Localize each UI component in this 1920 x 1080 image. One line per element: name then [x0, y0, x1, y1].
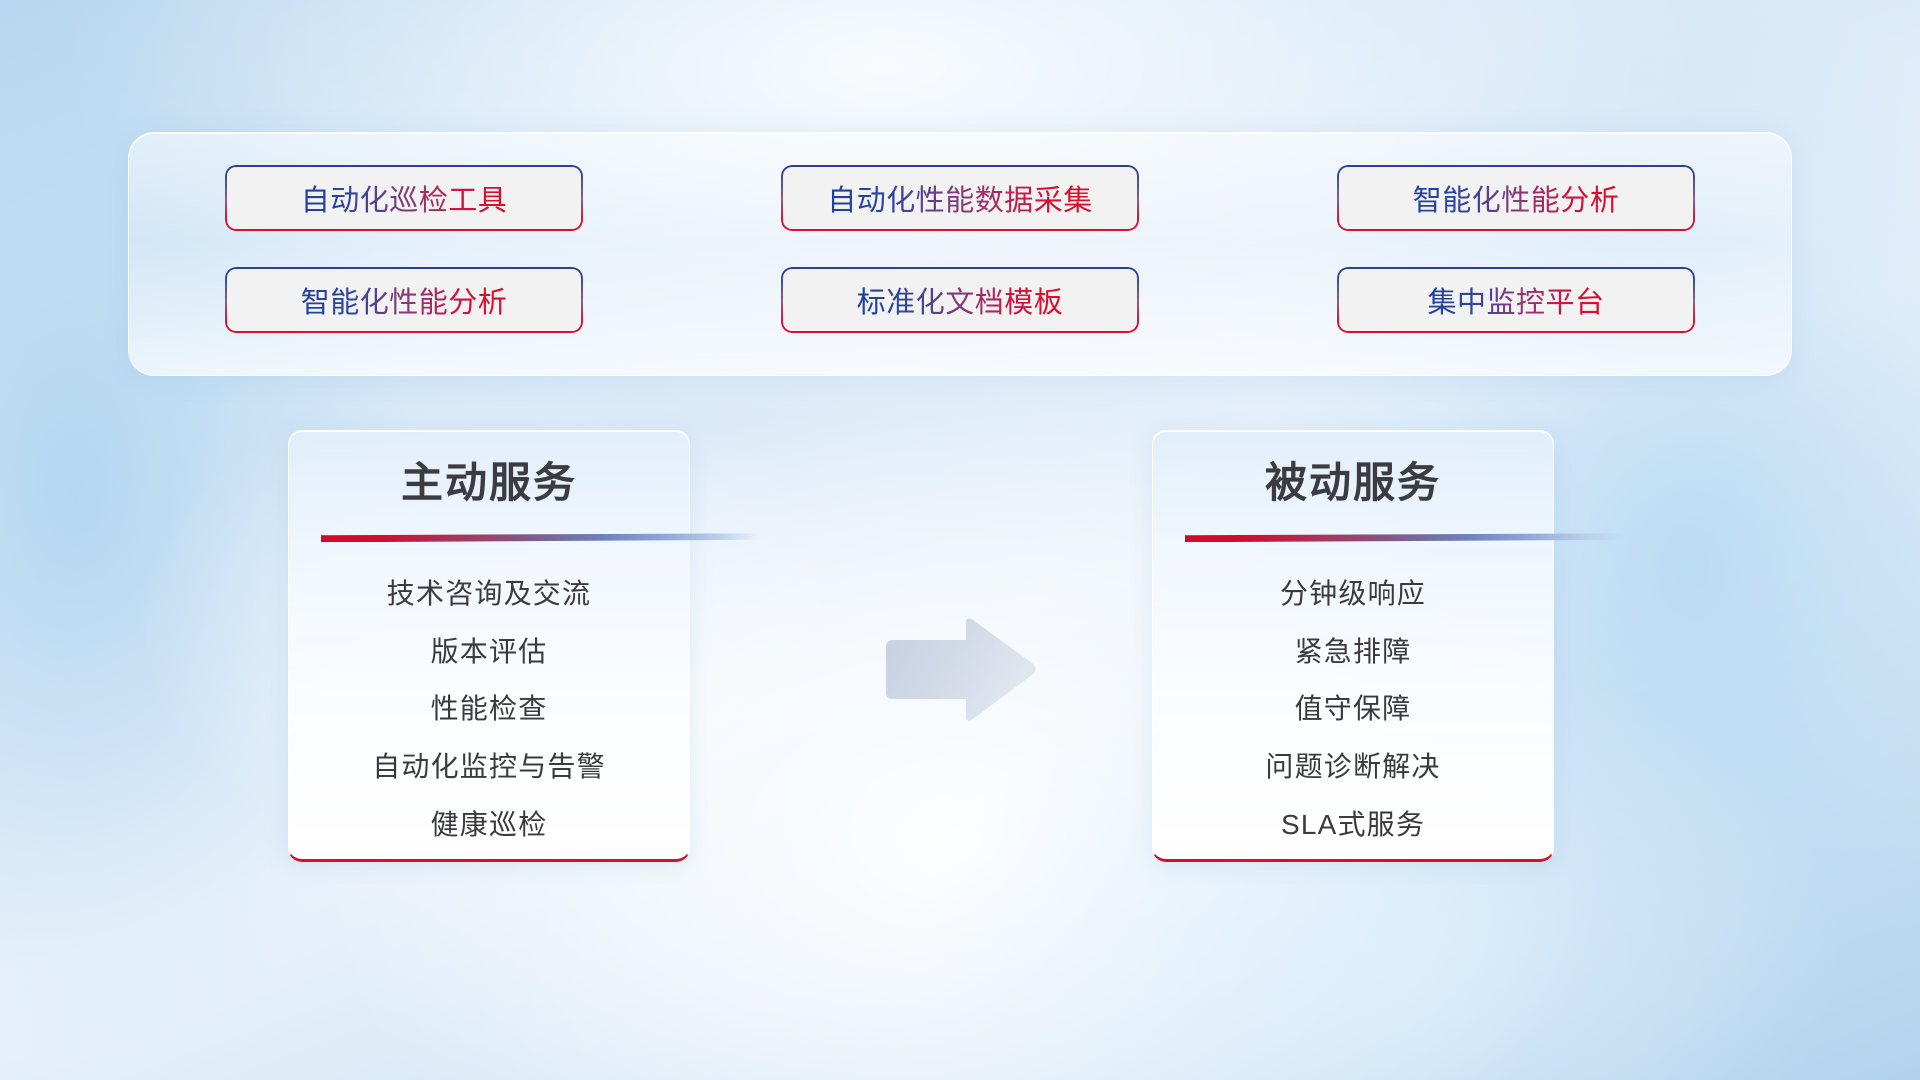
list-item[interactable]: 健康巡检: [431, 808, 548, 842]
service-card-proactive: 主动服务 技术咨询及交流 版本评估 性能检查 自动化监控与告警 健康巡检: [288, 430, 690, 862]
list-item[interactable]: 技术咨询及交流: [387, 577, 591, 611]
divider-gradient-bar: [321, 533, 759, 542]
card-title: 主动服务: [289, 459, 689, 507]
list-item[interactable]: 性能检查: [431, 692, 548, 726]
list-item[interactable]: SLA式服务: [1281, 808, 1425, 842]
capability-tag-label: 智能化性能分析: [301, 279, 508, 321]
list-item[interactable]: 分钟级响应: [1280, 577, 1426, 611]
capability-tag-1[interactable]: 自动化性能数据采集: [781, 165, 1139, 231]
list-item[interactable]: 版本评估: [431, 635, 548, 669]
capability-tag-label: 智能化性能分析: [1413, 177, 1620, 219]
card-item-list: 分钟级响应 紧急排障 值守保障 问题诊断解决 SLA式服务: [1153, 577, 1553, 841]
list-item[interactable]: 紧急排障: [1295, 635, 1412, 669]
capability-tag-5[interactable]: 集中监控平台: [1337, 267, 1695, 333]
card-title: 被动服务: [1153, 459, 1553, 507]
capability-tag-4[interactable]: 标准化文档模板: [781, 267, 1139, 333]
capability-tag-0[interactable]: 自动化巡检工具: [225, 165, 583, 231]
arrow-right-icon: [880, 615, 1040, 725]
capability-tag-label: 标准化文档模板: [857, 279, 1064, 321]
divider-gradient-bar: [1185, 533, 1623, 542]
capability-tag-label: 集中监控平台: [1427, 279, 1604, 321]
capability-tag-2[interactable]: 智能化性能分析: [1337, 165, 1695, 231]
list-item[interactable]: 问题诊断解决: [1265, 750, 1440, 784]
list-item[interactable]: 值守保障: [1295, 692, 1412, 726]
list-item[interactable]: 自动化监控与告警: [372, 750, 606, 784]
card-title-divider: [1185, 533, 1623, 543]
card-title-divider: [321, 533, 759, 543]
capability-tag-grid: 自动化巡检工具 自动化性能数据采集 智能化性能分析 智能化性能分析 标准化文档模…: [225, 165, 1695, 333]
capability-tag-label: 自动化巡检工具: [301, 177, 508, 219]
service-card-reactive: 被动服务 分钟级响应 紧急排障 值守保障 问题诊断解决 SLA式服务: [1152, 430, 1554, 862]
capabilities-panel: 自动化巡检工具 自动化性能数据采集 智能化性能分析 智能化性能分析 标准化文档模…: [128, 132, 1792, 376]
capability-tag-3[interactable]: 智能化性能分析: [225, 267, 583, 333]
card-item-list: 技术咨询及交流 版本评估 性能检查 自动化监控与告警 健康巡检: [289, 577, 689, 841]
capability-tag-label: 自动化性能数据采集: [827, 177, 1093, 219]
